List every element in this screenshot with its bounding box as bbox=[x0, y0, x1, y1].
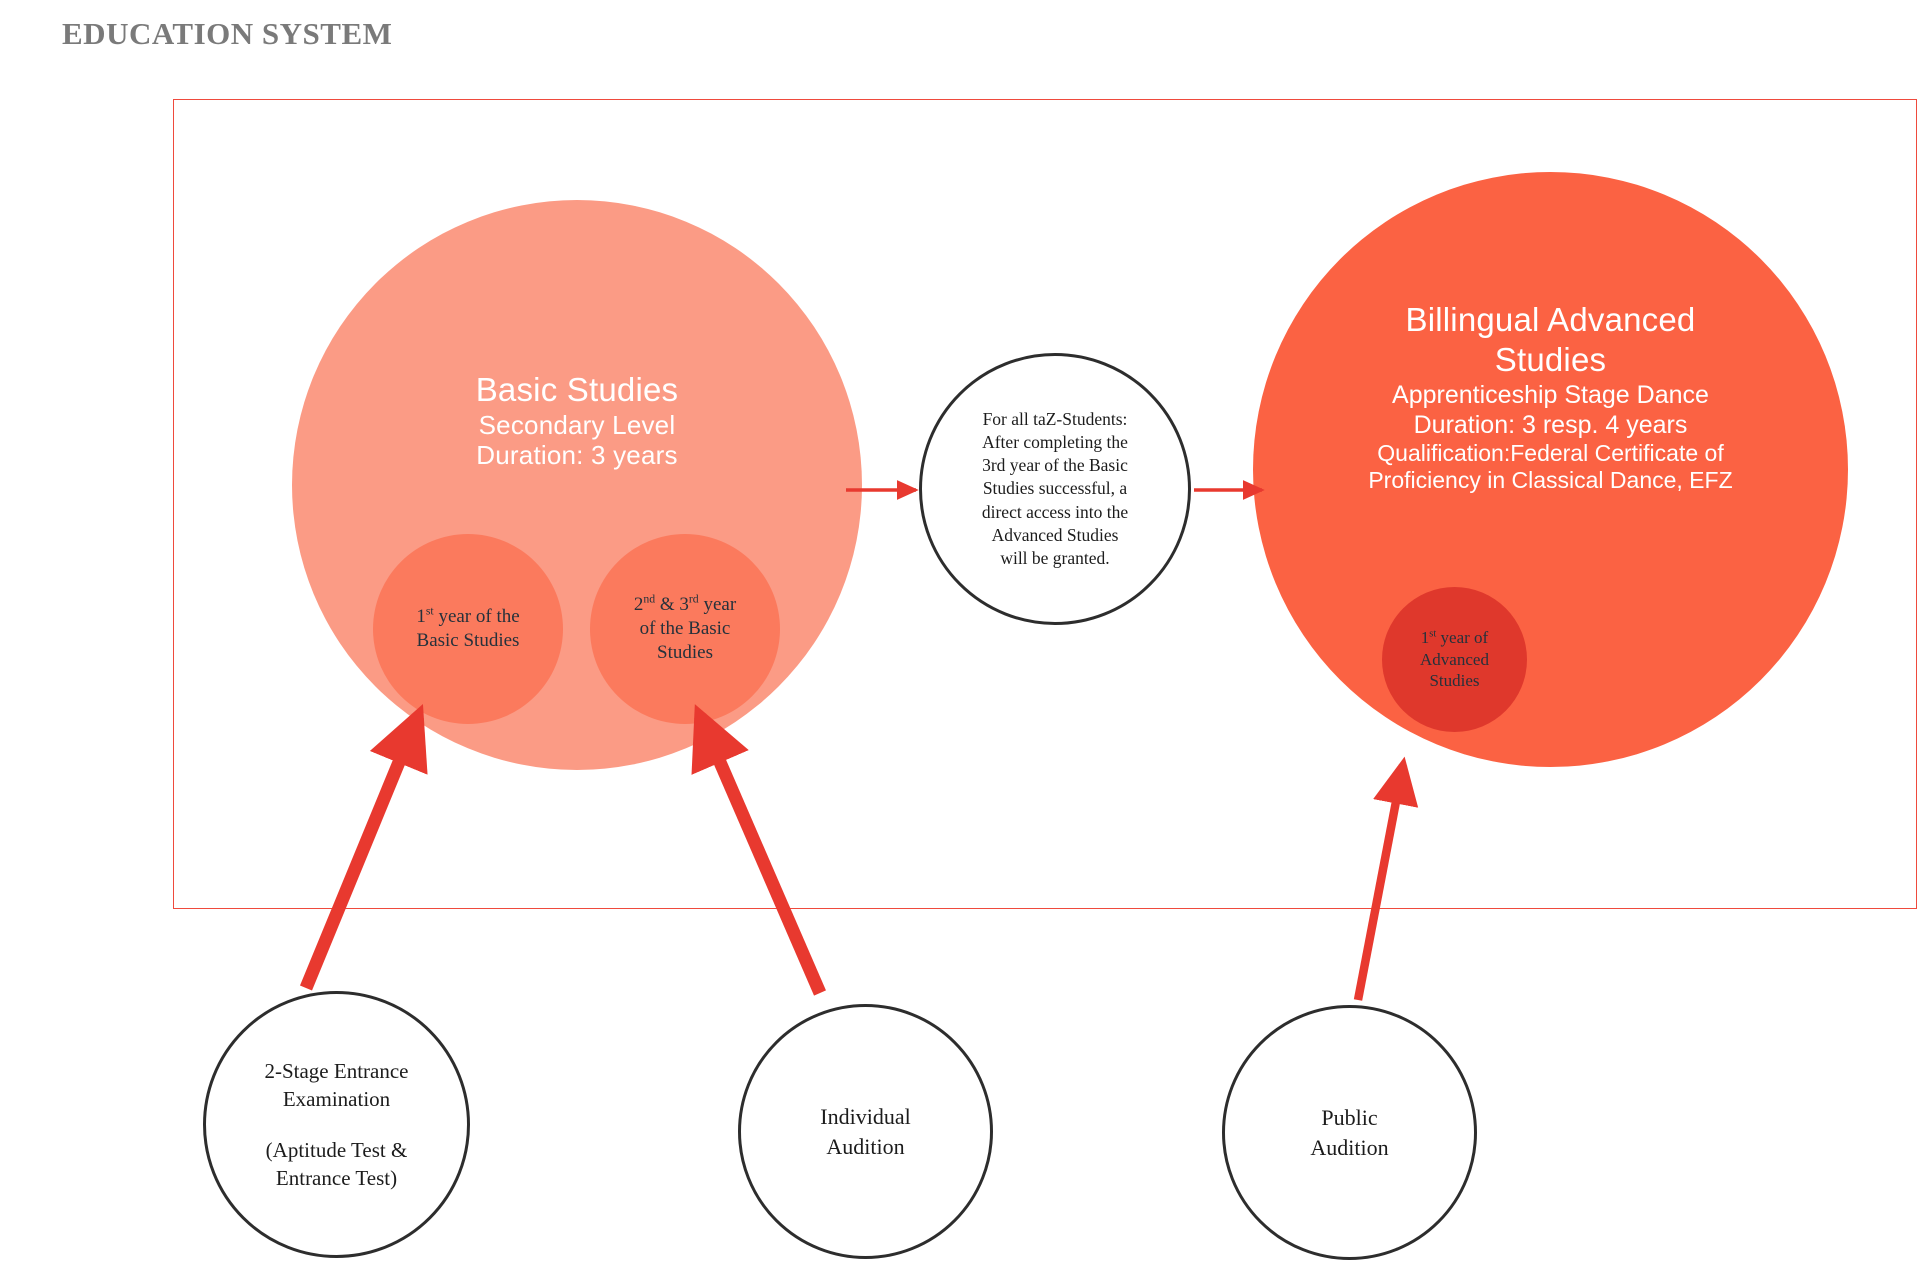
first-year-advanced-circle[interactable]: 1st year of Advanced Studies bbox=[1382, 587, 1527, 732]
transfer-note-circle[interactable]: For all taZ-Students: After completing t… bbox=[919, 353, 1191, 625]
advanced-studies-title-line1: Billingual Advanced bbox=[1368, 300, 1732, 340]
individual-audition-label: Individual Audition bbox=[798, 1102, 932, 1161]
first-year-basic-prefix: 1 bbox=[416, 606, 426, 627]
first-year-advanced-rest: year of bbox=[1436, 628, 1488, 647]
basic-studies-circle[interactable]: Basic Studies Secondary Level Duration: … bbox=[292, 200, 862, 770]
entrance-line4: Entrance Test) bbox=[276, 1166, 397, 1190]
first-year-basic-ordinal-suffix: st bbox=[426, 604, 434, 617]
public-audition-circle[interactable]: Public Audition bbox=[1222, 1005, 1477, 1260]
first-year-basic-label: 1st year of the Basic Studies bbox=[406, 605, 529, 654]
entrance-line3: (Aptitude Test & bbox=[266, 1138, 408, 1162]
individual-line2: Audition bbox=[826, 1134, 904, 1159]
basic-studies-level: Secondary Level bbox=[476, 410, 679, 441]
first-year-advanced-label: 1st year of Advanced Studies bbox=[1410, 627, 1499, 692]
second-third-ordinal-suffix: nd bbox=[643, 592, 655, 605]
basic-studies-text: Basic Studies Secondary Level Duration: … bbox=[476, 371, 679, 471]
first-year-advanced-prefix: 1 bbox=[1421, 628, 1430, 647]
public-audition-label: Public Audition bbox=[1288, 1103, 1410, 1162]
individual-line1: Individual bbox=[820, 1104, 910, 1129]
advanced-studies-circle[interactable]: Billingual Advanced Studies Apprenticesh… bbox=[1253, 172, 1848, 767]
second-third-year-basic-label: 2nd & 3rd year of the Basic Studies bbox=[624, 593, 746, 666]
transfer-note-line2: After completing the bbox=[982, 432, 1128, 452]
entrance-line1: 2-Stage Entrance bbox=[264, 1059, 408, 1083]
first-year-advanced-line2: Advanced bbox=[1420, 650, 1489, 669]
transfer-note-line4: Studies successful, a bbox=[983, 478, 1127, 498]
first-year-advanced-line3: Studies bbox=[1429, 671, 1479, 690]
public-line1: Public bbox=[1321, 1105, 1377, 1130]
advanced-studies-text: Billingual Advanced Studies Apprenticesh… bbox=[1368, 300, 1732, 494]
second-third-line3: Studies bbox=[657, 642, 713, 663]
diagram-canvas: EDUCATION SYSTEM Basic Studies Secondary… bbox=[0, 0, 1920, 1280]
advanced-studies-qualification-line1: Qualification:Federal Certificate of bbox=[1368, 440, 1732, 468]
basic-studies-duration: Duration: 3 years bbox=[476, 440, 679, 471]
transfer-note-line5: direct access into the bbox=[982, 502, 1128, 522]
transfer-note-line1: For all taZ-Students: bbox=[983, 409, 1128, 429]
transfer-note-line3: 3rd year of the Basic bbox=[982, 455, 1128, 475]
individual-audition-circle[interactable]: Individual Audition bbox=[738, 1004, 993, 1259]
transfer-note-line7: will be granted. bbox=[1000, 548, 1109, 568]
two-stage-entrance-label: 2-Stage Entrance Examination (Aptitude T… bbox=[242, 1057, 430, 1192]
second-third-line2: of the Basic bbox=[640, 618, 731, 639]
advanced-studies-apprenticeship: Apprenticeship Stage Dance bbox=[1368, 380, 1732, 410]
second-third-year-basic-circle[interactable]: 2nd & 3rd year of the Basic Studies bbox=[590, 534, 780, 724]
advanced-studies-title-line2: Studies bbox=[1368, 340, 1732, 380]
two-stage-entrance-examination-circle[interactable]: 2-Stage Entrance Examination (Aptitude T… bbox=[203, 991, 470, 1258]
first-year-basic-line2: Basic Studies bbox=[417, 630, 520, 651]
advanced-studies-qualification-line2: Proficiency in Classical Dance, EFZ bbox=[1368, 467, 1732, 495]
second-third-rest: year bbox=[699, 594, 736, 615]
advanced-studies-duration: Duration: 3 resp. 4 years bbox=[1368, 410, 1732, 440]
page-title: EDUCATION SYSTEM bbox=[62, 16, 392, 52]
first-year-basic-rest: year of the bbox=[434, 606, 520, 627]
second-third-ordinal-suffix-2: rd bbox=[689, 592, 699, 605]
public-line2: Audition bbox=[1310, 1135, 1388, 1160]
basic-studies-title: Basic Studies bbox=[476, 371, 679, 410]
second-third-prefix: 2 bbox=[634, 594, 644, 615]
transfer-note-line6: Advanced Studies bbox=[992, 525, 1119, 545]
entrance-label-spacer bbox=[264, 1114, 408, 1136]
first-year-basic-circle[interactable]: 1st year of the Basic Studies bbox=[373, 534, 563, 724]
entrance-line2: Examination bbox=[283, 1087, 390, 1111]
second-third-mid: & 3 bbox=[655, 594, 689, 615]
transfer-note-text: For all taZ-Students: After completing t… bbox=[966, 408, 1144, 570]
